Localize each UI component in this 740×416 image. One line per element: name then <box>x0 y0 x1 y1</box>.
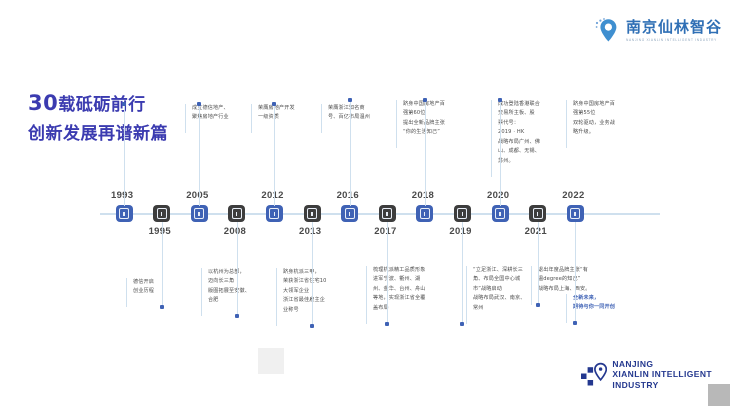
node-badge-icon <box>119 208 129 219</box>
event-text-line: 进军宁波、衢州、湖 <box>373 275 446 284</box>
timeline-event-card-1993: 成立德信地产、聚焦房地产行业 <box>185 104 247 133</box>
timeline-year-1993: 1993 <box>111 190 133 201</box>
timeline-node-1995[interactable] <box>153 205 170 222</box>
timeline-year-2018: 2018 <box>412 190 434 201</box>
pin-mark-icon <box>581 360 607 390</box>
timeline-event-card-2018: 成功登陆香港联合交易所主板、股票代号：2019 · HK战略布局广州、佛山、成都… <box>491 100 565 177</box>
timeline-node-2022[interactable] <box>567 205 584 222</box>
event-text-line: 战略布局广州、佛 <box>498 138 565 147</box>
timeline-event-card-2013: 跻身杭派三甲，荣获浙江省住宅10大领军企业浙江省最佳雇主企业称号 <box>276 268 356 326</box>
timeline-connector-dot <box>573 321 577 325</box>
timeline-node-2019[interactable] <box>454 205 471 222</box>
event-text-line: 荣膺浙江知名商 <box>328 104 393 113</box>
timeline-connector <box>350 100 351 206</box>
timeline-connector-dot <box>197 102 201 106</box>
decor-square-gray <box>708 384 730 406</box>
timeline-connector <box>199 104 200 206</box>
event-text-line: 交易所主板、股 <box>498 109 565 118</box>
timeline-connector-dot <box>385 322 389 326</box>
event-text-line: 提出全新品牌主张 <box>403 119 468 128</box>
event-text-line: 荣获浙江省住宅10 <box>283 277 356 286</box>
event-text-line: 德信开启 <box>133 278 188 287</box>
timeline-year-2013: 2013 <box>299 226 321 237</box>
timeline-connector <box>274 104 275 206</box>
node-badge-icon <box>269 208 279 219</box>
timeline-event-card-2017: 梳理杭派精工品质形象进军宁波、衢州、湖州、金华、台州、舟山等地，实现浙江省全覆盖… <box>366 266 446 324</box>
slide-canvas: 南京仙林智谷 NANJING XIANLIN INTELLIGENT INDUS… <box>0 0 740 416</box>
timeline-node-2012[interactable] <box>266 205 283 222</box>
timeline-event-card-2016: 跻身中国房地产百强第60位提出全新品牌主张“你的生活知己” <box>396 100 468 148</box>
timeline-year-2019: 2019 <box>449 226 471 237</box>
timeline-connector <box>387 222 388 325</box>
timeline-event-card-2020: 跻身中国房地产百强第55位双轮驱动，业务战略升级。 <box>566 100 648 148</box>
footer-line-1: NANJING <box>612 359 712 369</box>
footer-line-2: XIANLIN INTELLIGENT <box>612 369 712 379</box>
node-badge-icon <box>307 208 317 219</box>
timeline-year-2012: 2012 <box>261 190 283 201</box>
timeline-connector-dot <box>310 324 314 328</box>
event-text-line: 浙江省最佳雇主企 <box>283 296 356 305</box>
event-text-line: 苏州。 <box>498 157 565 166</box>
event-text-line: 州、金华、台州、舟山 <box>373 285 446 294</box>
event-text-line: 等地，实现浙江省全覆 <box>373 294 446 303</box>
timeline-event-card-2005: 荣膺房地产开发一级资质 <box>251 104 317 133</box>
node-badge-icon <box>495 208 505 219</box>
timeline-node-2008[interactable] <box>228 205 245 222</box>
timeline-connector <box>237 222 238 317</box>
timeline-node-2005[interactable] <box>191 205 208 222</box>
timeline-connector <box>425 100 426 206</box>
node-badge-icon <box>457 208 467 219</box>
event-text-line: 合肥 <box>208 296 273 305</box>
timeline-node-2017[interactable] <box>379 205 396 222</box>
event-text-line: 双轮驱动，业务战 <box>573 119 648 128</box>
event-text-line: 大领军企业 <box>283 287 356 296</box>
timeline-connector-dot <box>536 303 540 307</box>
node-badge-icon <box>570 208 580 219</box>
timeline-connector <box>575 222 576 324</box>
timeline-connector <box>538 222 539 305</box>
event-text-line: 盖布局 <box>373 304 446 313</box>
timeline-node-2021[interactable] <box>529 205 546 222</box>
event-text-line: 跻身中国房地产百 <box>403 100 468 109</box>
event-text-line: 山、成都、无锡、 <box>498 147 565 156</box>
node-badge-icon <box>345 208 355 219</box>
timeline-connector-dot <box>498 98 502 102</box>
event-text-line: 创业历程 <box>133 287 188 296</box>
timeline-node-2013[interactable] <box>304 205 321 222</box>
event-text-line: 票代号： <box>498 119 565 128</box>
timeline-connector <box>162 222 163 308</box>
event-text-line: 迈向长三角 <box>208 277 273 286</box>
event-text-line: 全新未来， <box>573 294 648 303</box>
timeline-node-2016[interactable] <box>341 205 358 222</box>
footer-line-3: INDUSTRY <box>612 380 712 390</box>
event-text-line: 业称号 <box>283 306 356 315</box>
event-text-line: 期待与你一同开创 <box>573 303 648 312</box>
timeline-connector-dot <box>348 98 352 102</box>
event-text-line: 版图拓展至安徽、 <box>208 287 273 296</box>
timeline-connector <box>312 222 313 327</box>
timeline-year-2017: 2017 <box>374 226 396 237</box>
timeline-event-card-2022: 全新未来，期待与你一同开创 <box>566 294 648 323</box>
event-text-line: 荣膺房地产开发 <box>258 104 317 113</box>
timeline-connector-dot <box>423 98 427 102</box>
timeline-year-2022: 2022 <box>562 190 584 201</box>
decor-square-light <box>258 348 284 374</box>
timeline-connector-dot <box>160 305 164 309</box>
footer-brand-text: NANJING XIANLIN INTELLIGENT INDUSTRY <box>612 359 712 390</box>
event-text-line: 成功登陆香港联合 <box>498 100 565 109</box>
timeline-node-2018[interactable] <box>416 205 433 222</box>
event-text-line: 强第55位 <box>573 109 648 118</box>
event-text-line: 以杭州为总部， <box>208 268 273 277</box>
event-text-line: 梳理杭派精工品质形象 <box>373 266 446 275</box>
node-badge-icon <box>157 208 167 219</box>
timeline-connector-dot <box>272 102 276 106</box>
event-text-line: “你的生活知己” <box>403 128 468 137</box>
timeline-year-2008: 2008 <box>224 226 246 237</box>
event-text-line: 跻身杭派三甲， <box>283 268 356 277</box>
timeline-year-2005: 2005 <box>186 190 208 201</box>
timeline-connector <box>500 100 501 206</box>
event-text-line: 号、百亿布局温州 <box>328 113 393 122</box>
event-text-line: 聚焦房地产行业 <box>192 113 247 122</box>
event-text-line: 强第60位 <box>403 109 468 118</box>
timeline-year-2016: 2016 <box>337 190 359 201</box>
timeline-connector-dot <box>235 314 239 318</box>
timeline-event-card-2012: 荣膺浙江知名商号、百亿布局温州 <box>321 104 393 133</box>
timeline-year-1995: 1995 <box>149 226 171 237</box>
event-text-line: 跻身中国房地产百 <box>573 100 648 109</box>
timeline: 1993成立德信地产、聚焦房地产行业1995德信开启创业历程2005荣膺房地产开… <box>0 0 740 416</box>
node-badge-icon <box>420 208 430 219</box>
node-badge-icon <box>533 208 543 219</box>
node-badge-icon <box>232 208 242 219</box>
timeline-node-2020[interactable] <box>492 205 509 222</box>
event-text-line: 一级资质 <box>258 113 317 122</box>
timeline-connector-dot <box>122 102 126 106</box>
timeline-year-2021: 2021 <box>525 226 547 237</box>
timeline-event-card-1995: 德信开启创业历程 <box>126 278 188 307</box>
timeline-connector <box>462 222 463 325</box>
timeline-node-1993[interactable] <box>116 205 133 222</box>
event-text-line: 略升级。 <box>573 128 648 137</box>
timeline-connector <box>124 104 125 206</box>
timeline-year-2020: 2020 <box>487 190 509 201</box>
event-text-line: 2019 · HK <box>498 128 565 137</box>
brand-logo-footer: NANJING XIANLIN INTELLIGENT INDUSTRY <box>581 359 712 390</box>
node-badge-icon <box>194 208 204 219</box>
node-badge-icon <box>382 208 392 219</box>
timeline-connector-dot <box>460 322 464 326</box>
